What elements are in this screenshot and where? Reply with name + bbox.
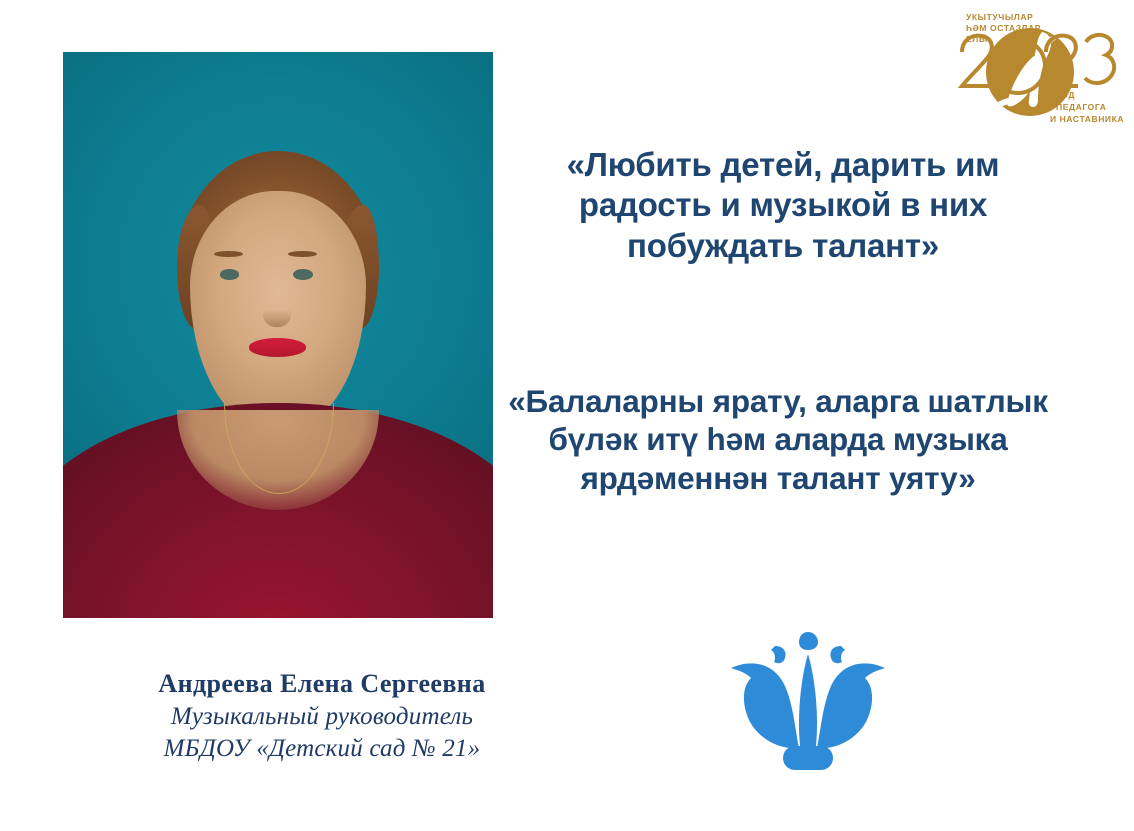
logo-top-line-2: ҺӘМ ОСТАЗЛАР xyxy=(966,23,1041,33)
tulip-emblem xyxy=(723,628,893,780)
tulip-icon xyxy=(731,632,885,770)
logo-bottom-line-2: ПЕДАГОГА xyxy=(1056,102,1107,112)
caption-block: Андреева Елена Сергеевна Музыкальный рук… xyxy=(52,668,592,766)
logo-bottom-line-3: И НАСТАВНИКА xyxy=(1050,114,1124,124)
portrait-frame xyxy=(63,52,493,618)
portrait-photo xyxy=(63,52,493,618)
year-of-teacher-logo: УКЫТУЧЫЛАР ҺӘМ ОСТАЗЛАР ЕЛЫ ГОД ПЕДАГОГА… xyxy=(938,4,1126,132)
teacher-name: Андреева Елена Сергеевна xyxy=(52,668,592,701)
slide-canvas: «Любить детей, дарить им радость и музык… xyxy=(0,0,1134,831)
logo-top-line-3: ЕЛЫ xyxy=(966,34,988,44)
teacher-position: Музыкальный руководитель xyxy=(52,701,592,734)
logo-top-line-1: УКЫТУЧЫЛАР xyxy=(966,12,1033,22)
quote-tatar: «Балаларны ярату, аларга шатлык бүләк ит… xyxy=(480,382,1076,497)
logo-bottom-line-1: ГОД xyxy=(1056,90,1075,100)
teacher-organization: МБДОУ «Детский сад № 21» xyxy=(52,733,592,766)
lips xyxy=(249,338,307,356)
quote-russian: «Любить детей, дарить им радость и музык… xyxy=(500,145,1066,266)
nose xyxy=(263,299,291,327)
